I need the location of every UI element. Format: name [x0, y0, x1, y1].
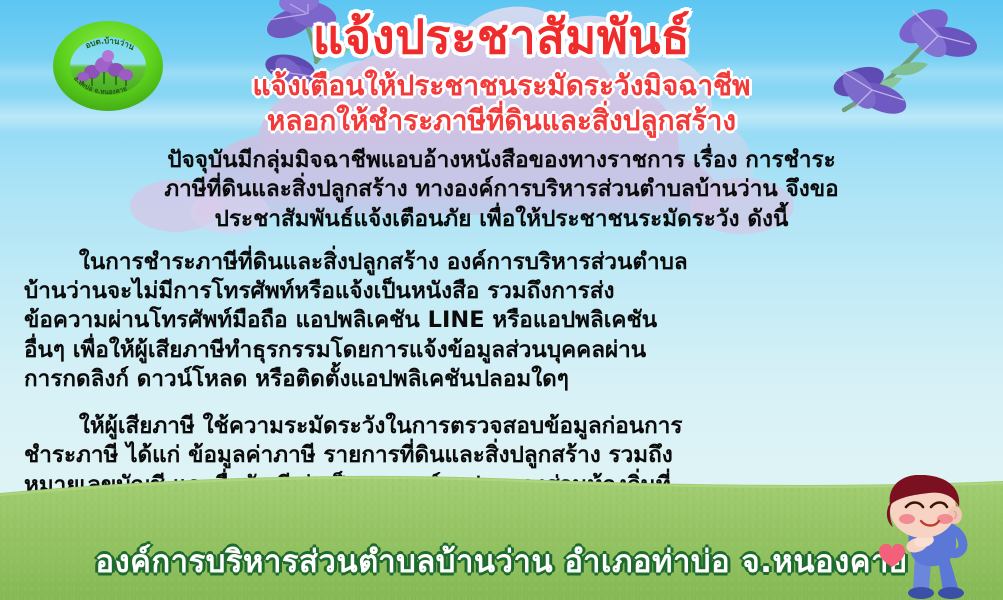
paragraph-3-line-1: ให้ผู้เสียภาษี ใช้ความระมัดระวังในการตรว… [24, 412, 979, 441]
paragraph-1-line-1: ปัจจุบันมีกลุ่มมิจฉาชีพแอบอ้างหนังสือของ… [24, 146, 979, 175]
paragraph-2-line-5: การกดลิงก์ ดาวน์โหลด หรือติดตั้งแอปพลิเค… [24, 365, 979, 394]
paragraph-1-line-2: ภาษีที่ดินและสิ่งปลูกสร้าง ทางองค์การบริ… [24, 175, 979, 204]
announcement-poster: อบต.บ้านว่าน อ.ท่าบ่อ จ.หนองคาย แจ้งประช… [0, 0, 1003, 600]
headline-block: แจ้งประชาสัมพันธ์ แจ้งเตือนให้ประชาชนระม… [0, 14, 1003, 138]
paragraph-2-line-1: ในการชำระภาษีที่ดินและสิ่งปลูกสร้าง องค์… [24, 248, 979, 277]
footer-organization: องค์การบริหารส่วนตำบลบ้านว่าน อำเภอท่าบ่… [0, 536, 1003, 586]
paragraph-2-line-4: อื่นๆ เพื่อให้ผู้เสียภาษีทำธุรกรรมโดยการ… [24, 336, 979, 365]
subtitle-line-2: หลอกให้ชำระภาษีที่ดินและสิ่งปลูกสร้าง [0, 103, 1003, 138]
page-title: แจ้งประชาสัมพันธ์ [0, 14, 1003, 62]
paragraph-1: ปัจจุบันมีกลุ่มมิจฉาชีพแอบอ้างหนังสือของ… [24, 146, 979, 234]
paragraph-1-line-3: ประชาสัมพันธ์แจ้งเตือนภัย เพื่อให้ประชาช… [24, 205, 979, 234]
subtitle-line-1: แจ้งเตือนให้ประชาชนระมัดระวังมิจฉาชีพ [0, 68, 1003, 103]
page-subtitle: แจ้งเตือนให้ประชาชนระมัดระวังมิจฉาชีพ หล… [0, 68, 1003, 139]
paragraph-2-line-2: บ้านว่านจะไม่มีการโทรศัพท์หรือแจ้งเป็นหน… [24, 277, 979, 306]
paragraph-2: ในการชำระภาษีที่ดินและสิ่งปลูกสร้าง องค์… [24, 248, 979, 394]
paragraph-2-line-3: ข้อความผ่านโทรศัพท์มือถือ แอปพลิเคชัน LI… [24, 306, 979, 335]
